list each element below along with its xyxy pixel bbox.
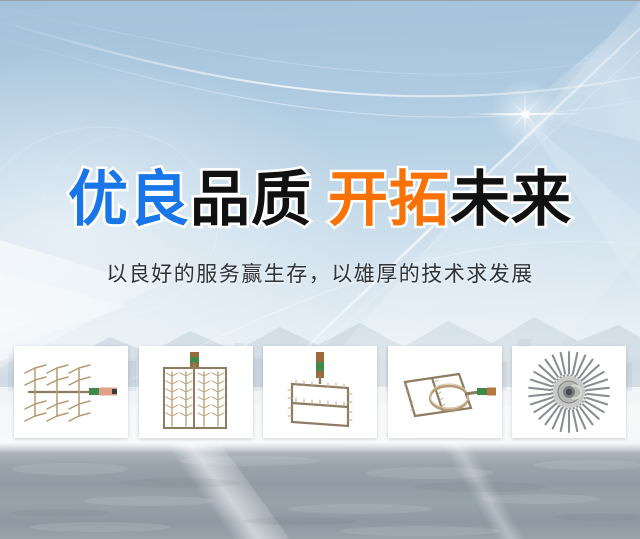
promo-banner: 优良品质开拓未来 以良好的服务赢生存，以雄厚的技术求发展	[0, 0, 640, 539]
double-row-plating-rack-icon	[148, 350, 244, 434]
headline-segment-3: 开拓	[328, 165, 450, 235]
product-card-ring-frame-rack[interactable]	[388, 346, 502, 438]
headline-segment-4: 未来	[450, 165, 572, 235]
comb-type-plating-rack-icon	[19, 352, 123, 432]
rectangular-frame-rack-icon	[274, 350, 366, 434]
ring-frame-rack-icon	[393, 352, 497, 432]
ground-texture	[0, 443, 640, 539]
page-title: 优良品质开拓未来	[0, 167, 640, 233]
ground-surface	[0, 443, 640, 539]
product-card-double-row-plating-rack[interactable]	[139, 346, 253, 438]
radial-sunburst-rack-icon	[525, 350, 613, 434]
product-card-rectangular-frame-rack[interactable]	[263, 346, 377, 438]
product-card-list	[14, 346, 626, 438]
product-card-comb-type-plating-rack[interactable]	[14, 346, 128, 438]
page-subtitle: 以良好的服务赢生存，以雄厚的技术求发展	[0, 259, 640, 289]
headline-segment-2: 品质	[190, 165, 312, 235]
headline-segment-1: 优良	[68, 165, 190, 235]
product-card-radial-sunburst-rack[interactable]	[512, 346, 626, 438]
